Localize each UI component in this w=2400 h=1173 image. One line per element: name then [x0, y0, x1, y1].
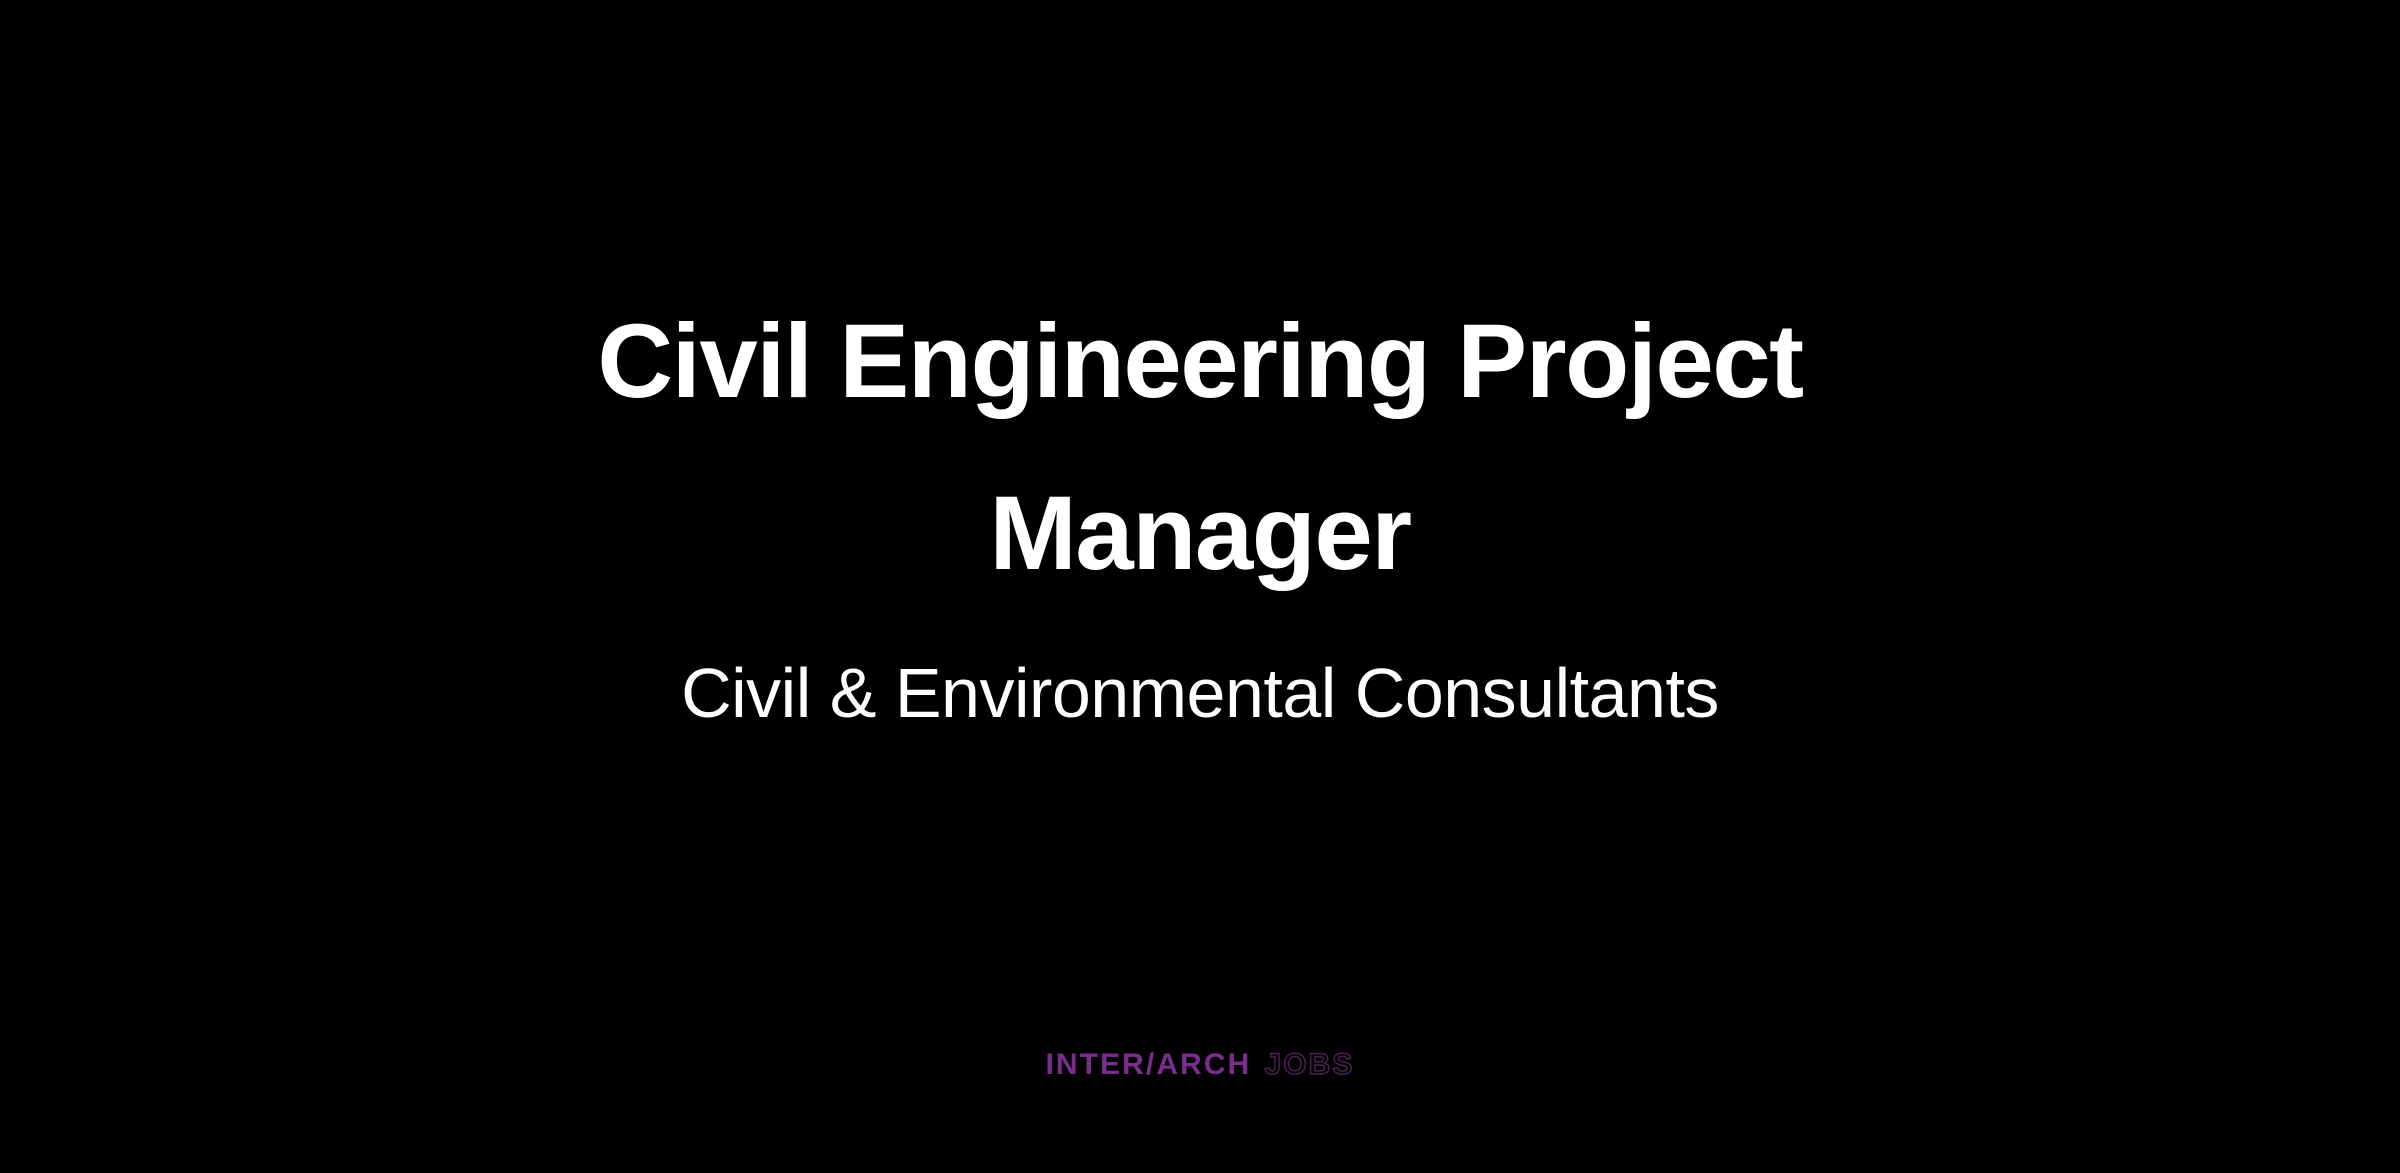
- page-title: Civil Engineering Project Manager: [250, 276, 2150, 620]
- job-posting-share-card: Civil Engineering Project Manager Civil …: [0, 0, 2400, 1173]
- brand-logo-primary-text: INTER/ARCH: [1045, 1048, 1251, 1081]
- brand-logo: INTER/ARCHJOBS: [0, 1048, 2400, 1082]
- company-name: Civil & Environmental Consultants: [0, 620, 2400, 734]
- brand-logo-secondary-text: JOBS: [1264, 1048, 1354, 1081]
- hero-text-block: Civil Engineering Project Manager Civil …: [0, 0, 2400, 734]
